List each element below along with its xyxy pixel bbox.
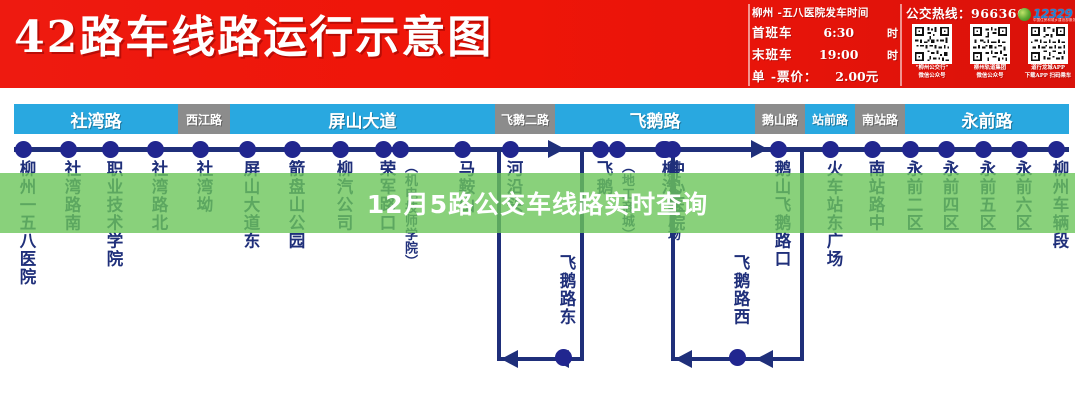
station-dot[interactable] (239, 141, 256, 158)
station-dot[interactable] (60, 141, 77, 158)
last-bus-value: 19:00 (819, 44, 858, 65)
road-band: 飞鹅路 (555, 104, 755, 134)
branch-station-label: 飞鹅路东 (552, 254, 576, 326)
qr-caption-line2: 微信公众号 (906, 73, 958, 80)
header-divider-2 (900, 4, 902, 86)
header-banner: 42路车线路运行示意图 柳州 -五八医院发车时间 首班车 6:30 时 末班车 … (0, 0, 1075, 92)
branch-station-dot[interactable] (555, 349, 572, 366)
station-dot[interactable] (902, 141, 919, 158)
road-band: 鹅山路 (755, 104, 805, 134)
branch-station-dot[interactable] (729, 349, 746, 366)
schedule-row-last-bus: 末班车 19:00 时 (752, 44, 898, 66)
road-name-bands: 社湾路西江路屏山大道飞鹅二路飞鹅路鹅山路站前路南站路永前路 (0, 104, 1075, 134)
qr-wechat-rail-group-icon[interactable] (970, 24, 1010, 64)
service-hotline-logo: 12329 中国住房和城乡建设部服务热线 (1018, 4, 1074, 24)
page-title: 42路车线路运行示意图 (14, 6, 493, 70)
watermark-text: 12月5路公交车线路实时查询 (0, 173, 1075, 233)
station-dot[interactable] (938, 141, 955, 158)
schedule-title: 柳州 -五八医院发车时间 (752, 4, 898, 22)
arrow-left-icon (756, 350, 773, 368)
qr-item[interactable]: 道行龙城APP 下载APP 扫码乘车 (1022, 24, 1074, 80)
arrow-left-icon (501, 350, 518, 368)
station-dot[interactable] (375, 141, 392, 158)
first-bus-label: 首班车 (752, 22, 793, 43)
header-divider-1 (748, 4, 750, 86)
qr-caption-line1: "柳州公交行" (906, 65, 958, 72)
station-dot[interactable] (192, 141, 209, 158)
road-band: 屏山大道 (230, 104, 495, 134)
hotline-qr-block: 公交热线：966366 12329 中国住房和城乡建设部服务热线 (906, 2, 1074, 90)
logo-subtitle: 中国住房和城乡建设部服务热线 (1033, 17, 1075, 22)
station-dot[interactable] (609, 141, 626, 158)
last-bus-unit: 时 (887, 45, 898, 66)
road-band: 社湾路 (14, 104, 178, 134)
schedule-block: 柳州 -五八医院发车时间 首班车 6:30 时 末班车 19:00 时 单 -票… (752, 4, 898, 88)
station-dot[interactable] (822, 141, 839, 158)
station-dot[interactable] (502, 141, 519, 158)
station-dot[interactable] (975, 141, 992, 158)
qr-caption-line1: 道行龙城APP (1022, 65, 1074, 72)
branch-station-label: 飞鹅路西 (726, 254, 750, 326)
station-dot[interactable] (664, 141, 681, 158)
route-diagram-page: 42路车线路运行示意图 柳州 -五八医院发车时间 首班车 6:30 时 末班车 … (0, 0, 1075, 400)
station-dot[interactable] (332, 141, 349, 158)
road-band: 站前路 (805, 104, 855, 134)
station-dot[interactable] (454, 141, 471, 158)
station-dot[interactable] (864, 141, 881, 158)
arrow-left-icon (675, 350, 692, 368)
fare-value: 2.00元 (835, 66, 878, 87)
swirl-icon (1018, 8, 1031, 21)
qr-row: "柳州公交行" 微信公众号 (906, 24, 1074, 80)
station-dot[interactable] (1011, 141, 1028, 158)
hotline-label: 公交热线： (906, 6, 971, 21)
road-band: 飞鹅二路 (495, 104, 555, 134)
station-dot[interactable] (592, 141, 609, 158)
qr-item[interactable]: "柳州公交行" 微信公众号 (906, 24, 958, 80)
first-bus-unit: 时 (887, 23, 898, 44)
station-dot[interactable] (284, 141, 301, 158)
qr-caption-line1: 柳州轨道集团 (964, 65, 1016, 72)
road-band: 永前路 (905, 104, 1069, 134)
station-dot[interactable] (15, 141, 32, 158)
last-bus-label: 末班车 (752, 44, 793, 65)
fare-label: 单 -票价： (752, 66, 818, 87)
first-bus-value: 6:30 (823, 22, 854, 43)
schedule-row-first-bus: 首班车 6:30 时 (752, 22, 898, 44)
qr-caption-line2: 下载APP 扫码乘车 (1022, 73, 1074, 80)
qr-daoxing-app-icon[interactable] (1028, 24, 1068, 64)
header-bottom-rule (0, 88, 1075, 92)
station-dot[interactable] (1048, 141, 1065, 158)
station-dot[interactable] (392, 141, 409, 158)
road-band: 南站路 (855, 104, 905, 134)
schedule-row-fare: 单 -票价： 2.00元 (752, 66, 898, 87)
arrow-right-icon (751, 140, 768, 158)
station-dot[interactable] (102, 141, 119, 158)
hotline-text: 公交热线：966366 (906, 6, 1026, 22)
qr-caption-line2: 微信公众号 (964, 73, 1016, 80)
qr-item[interactable]: 柳州轨道集团 微信公众号 (964, 24, 1016, 80)
qr-wechat-liuzhou-bus-icon[interactable] (912, 24, 952, 64)
station-dot[interactable] (770, 141, 787, 158)
station-dot[interactable] (147, 141, 164, 158)
road-band: 西江路 (178, 104, 230, 134)
arrow-right-icon (548, 140, 565, 158)
